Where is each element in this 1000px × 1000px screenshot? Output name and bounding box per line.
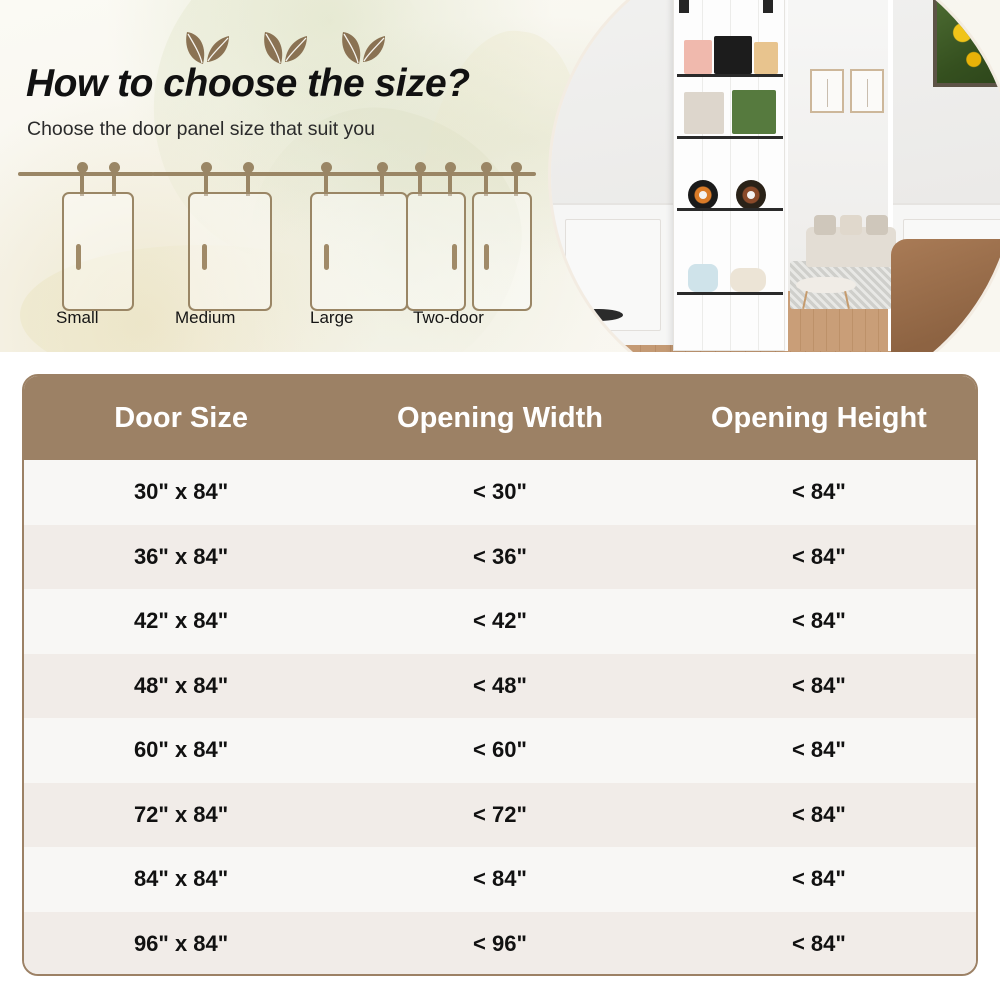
door-size-diagram-group: Small Medium <box>0 160 540 340</box>
door-hanger-roller <box>763 0 773 13</box>
leaf-motif-icon <box>256 22 310 66</box>
cell-opening-height: < 84" <box>662 673 976 699</box>
table-row: 36" x 84" < 36" < 84" <box>24 525 976 590</box>
cell-opening-height: < 84" <box>662 866 976 892</box>
door-handle-icon <box>452 244 457 270</box>
table-row: 60" x 84" < 60" < 84" <box>24 718 976 783</box>
rail-icon <box>18 172 154 176</box>
cell-opening-width: < 96" <box>338 931 662 957</box>
cell-opening-height: < 84" <box>662 802 976 828</box>
cell-opening-width: < 30" <box>338 479 662 505</box>
side-table <box>565 309 623 321</box>
sliding-barn-door <box>673 0 785 351</box>
wall-art-frame <box>850 69 884 113</box>
cell-opening-height: < 84" <box>662 608 976 634</box>
door-panel-outline <box>62 192 134 311</box>
cell-door-size: 96" x 84" <box>24 931 338 957</box>
wall-art-frame <box>810 69 844 113</box>
diagram-label-medium: Medium <box>175 308 235 328</box>
size-chart-table: Door Size Opening Width Opening Height 3… <box>22 374 978 976</box>
cell-door-size: 60" x 84" <box>24 737 338 763</box>
cell-door-size: 36" x 84" <box>24 544 338 570</box>
cell-opening-width: < 60" <box>338 737 662 763</box>
cell-opening-width: < 84" <box>338 866 662 892</box>
door-handle-icon <box>484 244 489 270</box>
door-handle-icon <box>324 244 329 270</box>
page-subtitle: Choose the door panel size that suit you <box>27 118 375 141</box>
table-row: 48" x 84" < 48" < 84" <box>24 654 976 719</box>
table-row: 42" x 84" < 42" < 84" <box>24 589 976 654</box>
leather-armchair <box>891 239 1000 352</box>
vinyl-record <box>688 180 718 210</box>
column-header-opening-height: Opening Height <box>662 402 976 435</box>
table-header-row: Door Size Opening Width Opening Height <box>24 376 976 460</box>
sofa <box>806 227 896 267</box>
cell-door-size: 42" x 84" <box>24 608 338 634</box>
table-row: 84" x 84" < 84" < 84" <box>24 847 976 912</box>
leaf-motif-icon <box>178 22 232 66</box>
table-row: 96" x 84" < 96" < 84" <box>24 912 976 977</box>
table-row: 30" x 84" < 30" < 84" <box>24 460 976 525</box>
cell-opening-height: < 84" <box>662 737 976 763</box>
leaf-motif-icon <box>334 22 388 66</box>
cell-opening-height: < 84" <box>662 544 976 570</box>
lifestyle-photo <box>548 0 1000 352</box>
cell-opening-width: < 36" <box>338 544 662 570</box>
door-handle-icon <box>202 244 207 270</box>
cell-door-size: 72" x 84" <box>24 802 338 828</box>
vinyl-record <box>736 180 766 210</box>
door-panel-outline <box>472 192 532 311</box>
diagram-label-large: Large <box>310 308 353 328</box>
doorway-opening <box>783 0 893 351</box>
rail-icon <box>152 172 288 176</box>
door-handle-icon <box>76 244 81 270</box>
sunflower-painting <box>933 0 1000 87</box>
cell-door-size: 84" x 84" <box>24 866 338 892</box>
cell-opening-width: < 42" <box>338 608 662 634</box>
column-header-door-size: Door Size <box>24 402 338 435</box>
door-panel-outline <box>188 192 272 311</box>
door-panel-outline <box>406 192 466 311</box>
page-title: How to choose the size? <box>26 62 470 106</box>
column-header-opening-width: Opening Width <box>338 402 662 435</box>
cell-opening-height: < 84" <box>662 931 976 957</box>
cell-opening-height: < 84" <box>662 479 976 505</box>
hero-panel: How to choose the size? Choose the door … <box>0 0 1000 352</box>
door-hanger-roller <box>679 0 689 13</box>
cell-opening-width: < 72" <box>338 802 662 828</box>
door-panel-outline <box>310 192 408 311</box>
diagram-label-two-door: Two-door <box>413 308 484 328</box>
table-row: 72" x 84" < 72" < 84" <box>24 783 976 848</box>
cell-opening-width: < 48" <box>338 673 662 699</box>
cell-door-size: 30" x 84" <box>24 479 338 505</box>
size-guide-infographic: How to choose the size? Choose the door … <box>0 0 1000 1000</box>
cell-door-size: 48" x 84" <box>24 673 338 699</box>
diagram-label-small: Small <box>56 308 99 328</box>
